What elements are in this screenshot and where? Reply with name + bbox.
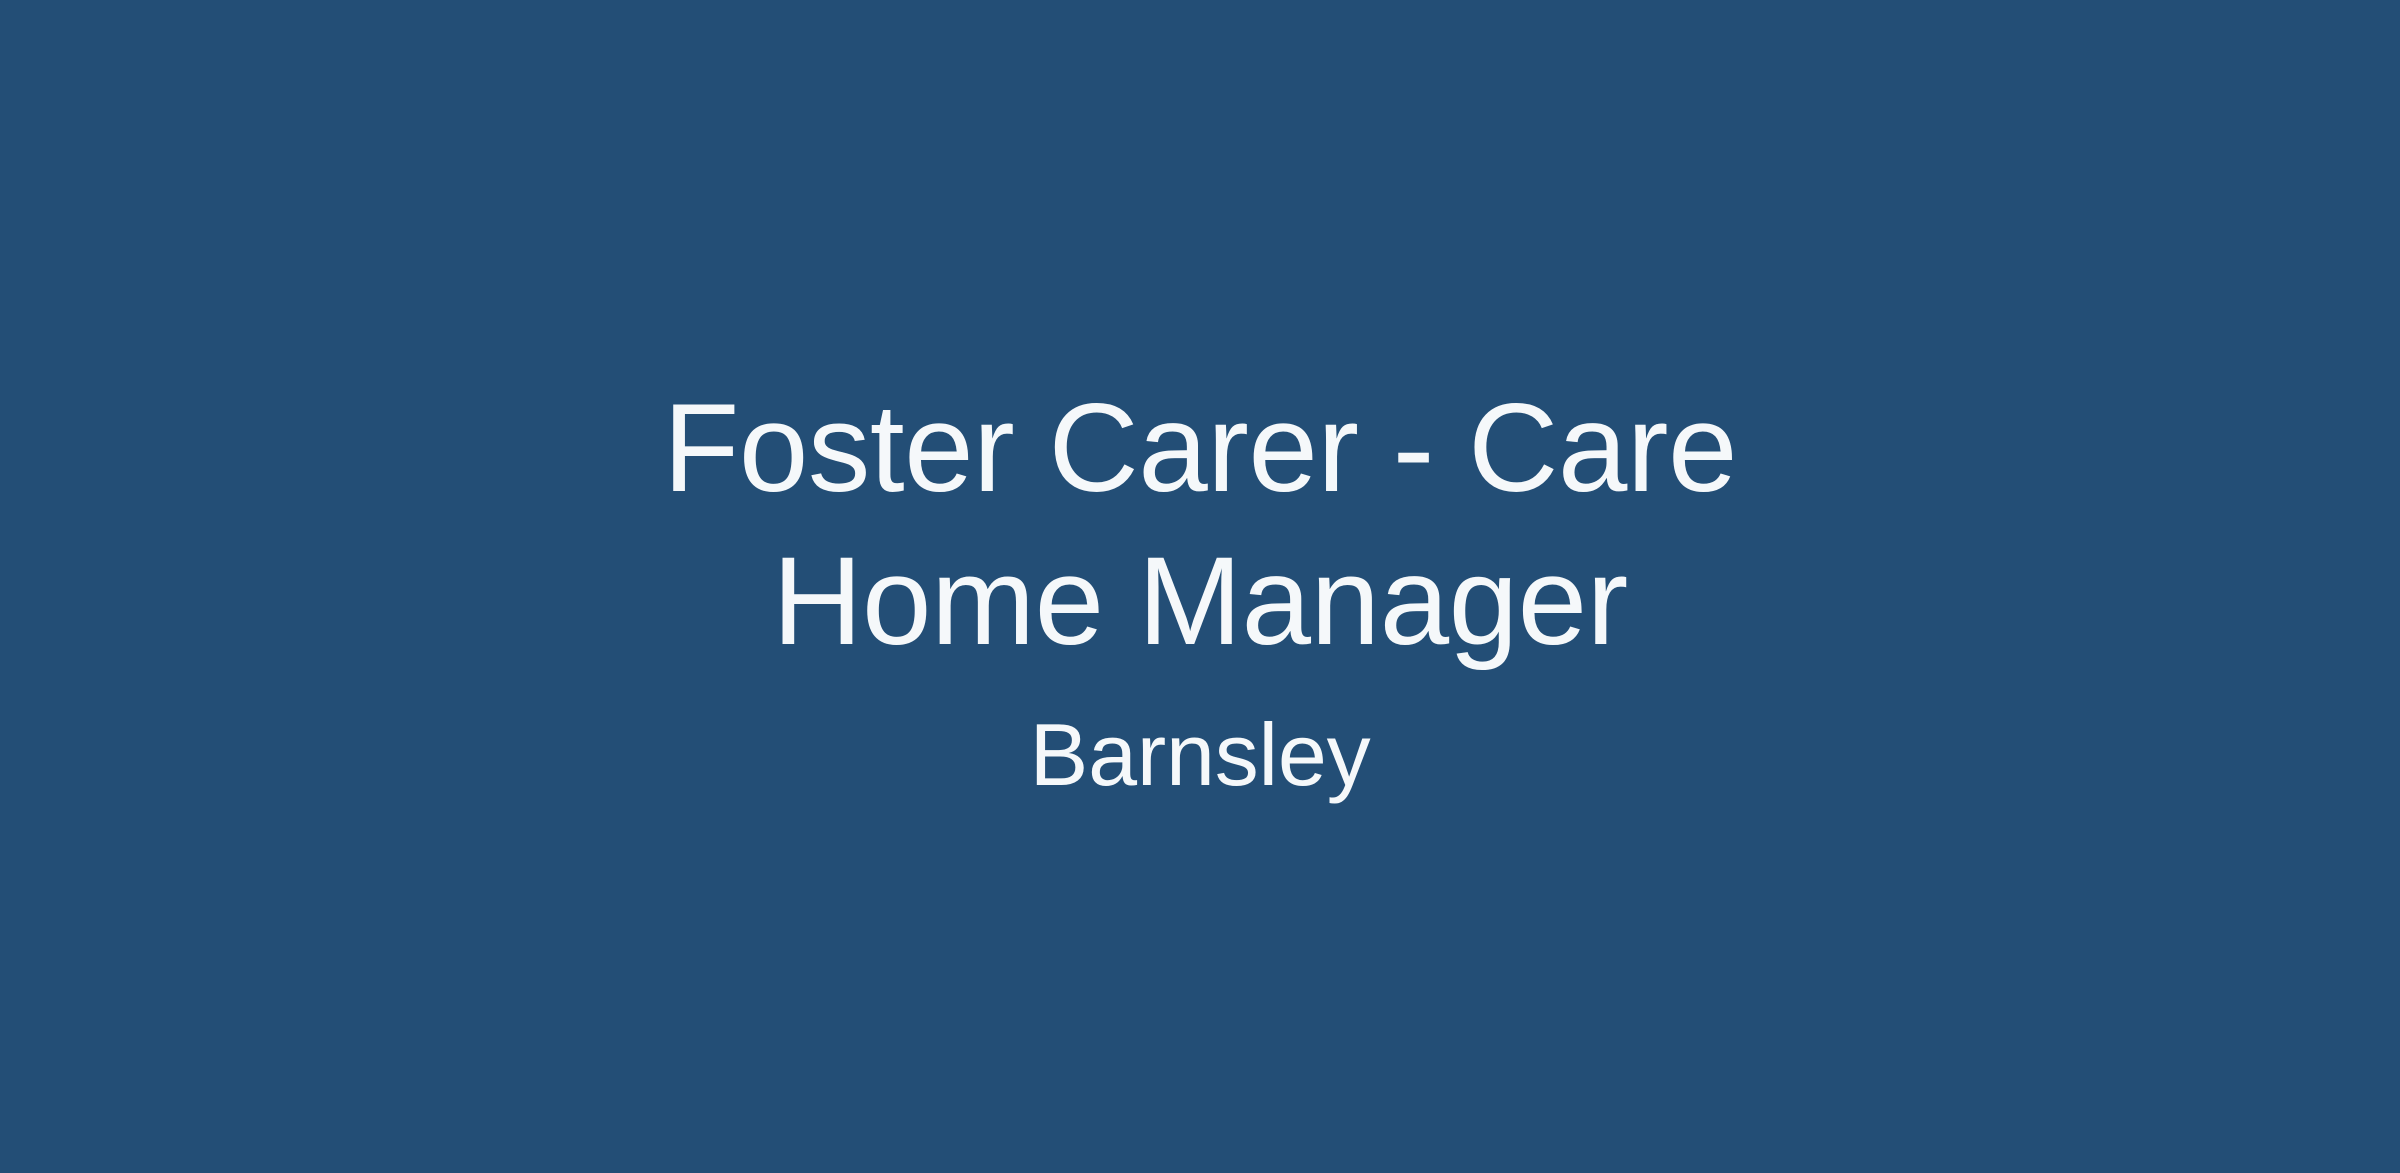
- hero-text-block: Foster Carer - Care Home Manager Barnsle…: [0, 372, 2400, 805]
- job-title: Foster Carer - Care Home Manager: [490, 372, 1910, 678]
- job-location: Barnsley: [1030, 705, 1371, 805]
- job-hero-banner: Foster Carer - Care Home Manager Barnsle…: [0, 0, 2400, 1173]
